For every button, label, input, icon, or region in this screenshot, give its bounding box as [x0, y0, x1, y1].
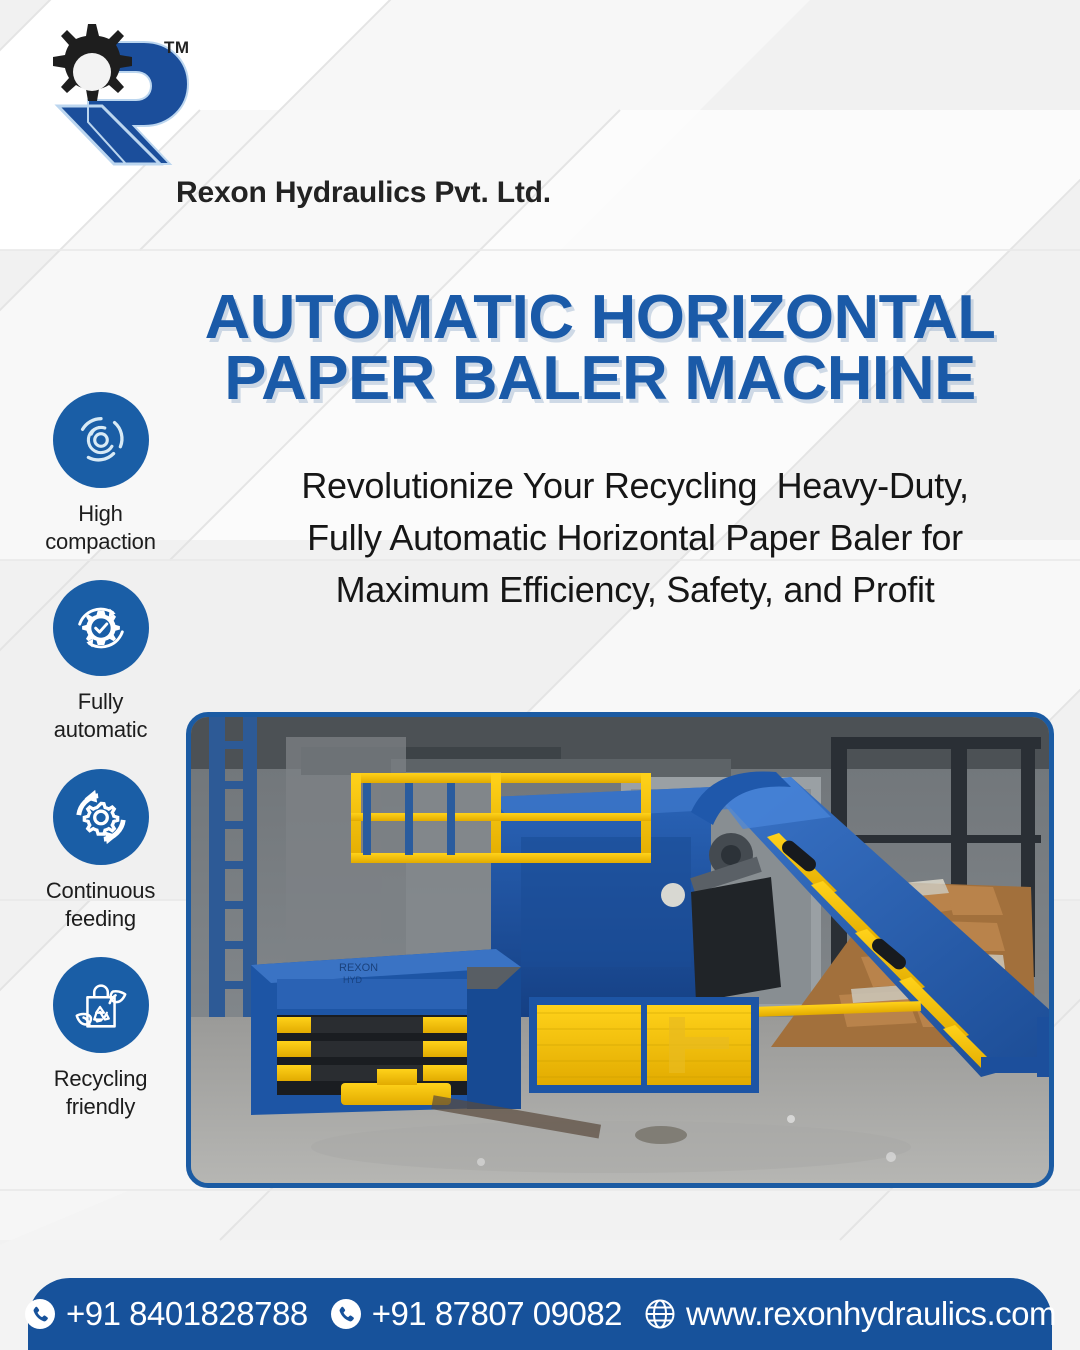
- feature-list: High compaction: [18, 392, 183, 1145]
- subtitle: Revolutionize Your Recycling Heavy-Duty,…: [215, 460, 1055, 617]
- globe-icon: [644, 1298, 676, 1330]
- contact-footer: +91 8401828788 +91 87807 09082 www.rexon…: [28, 1278, 1052, 1350]
- svg-text:HYD: HYD: [343, 975, 363, 985]
- website-url: www.rexonhydraulics.com: [686, 1295, 1056, 1333]
- feature-label: Fully automatic: [18, 688, 183, 744]
- gear-icon: [53, 24, 132, 101]
- feature-item-fully-automatic: Fully automatic: [18, 580, 183, 744]
- feature-label: Continuous feeding: [18, 877, 183, 933]
- headline-line-2: PAPER BALER MACHINE: [141, 349, 1059, 410]
- feature-label: High compaction: [18, 500, 183, 556]
- feature-item-recycling-friendly: Recycling friendly: [18, 957, 183, 1121]
- product-photo: REXON HYD: [186, 712, 1054, 1188]
- gear-check-arrows-icon: [53, 580, 149, 676]
- subtitle-line-1: Revolutionize Your Recycling Heavy-Duty,: [215, 460, 1055, 512]
- compaction-spiral-icon: [53, 392, 149, 488]
- headline-line-1: AUTOMATIC HORIZONTAL: [141, 288, 1059, 349]
- subtitle-line-3: Maximum Efficiency, Safety, and Profit: [215, 564, 1055, 616]
- svg-text:REXON: REXON: [339, 962, 378, 974]
- subtitle-line-2: Fully Automatic Horizontal Paper Baler f…: [215, 512, 1055, 564]
- phone-icon: [330, 1298, 362, 1330]
- recycle-bag-leaf-icon: [53, 957, 149, 1053]
- phone-icon: [24, 1298, 56, 1330]
- feature-item-high-compaction: High compaction: [18, 392, 183, 556]
- feature-label: Recycling friendly: [18, 1065, 183, 1121]
- phone-number-1: +91 8401828788: [66, 1295, 308, 1333]
- brand-header: TM Rexon Hydraulics Pvt. Ltd.: [18, 8, 578, 223]
- phone-number-2: +91 87807 09082: [372, 1295, 622, 1333]
- trademark-symbol: TM: [164, 38, 190, 58]
- gear-cycle-arrows-icon: [53, 769, 149, 865]
- company-name: Rexon Hydraulics Pvt. Ltd.: [176, 176, 551, 210]
- contact-phone-1[interactable]: +91 8401828788: [13, 1295, 319, 1333]
- page-title: AUTOMATIC HORIZONTAL PAPER BALER MACHINE: [150, 288, 1050, 410]
- contact-website[interactable]: www.rexonhydraulics.com: [633, 1295, 1067, 1333]
- feature-item-continuous-feeding: Continuous feeding: [18, 769, 183, 933]
- promotional-poster: TM Rexon Hydraulics Pvt. Ltd. AUTOMATIC …: [0, 0, 1080, 1350]
- contact-phone-2[interactable]: +91 87807 09082: [319, 1295, 633, 1333]
